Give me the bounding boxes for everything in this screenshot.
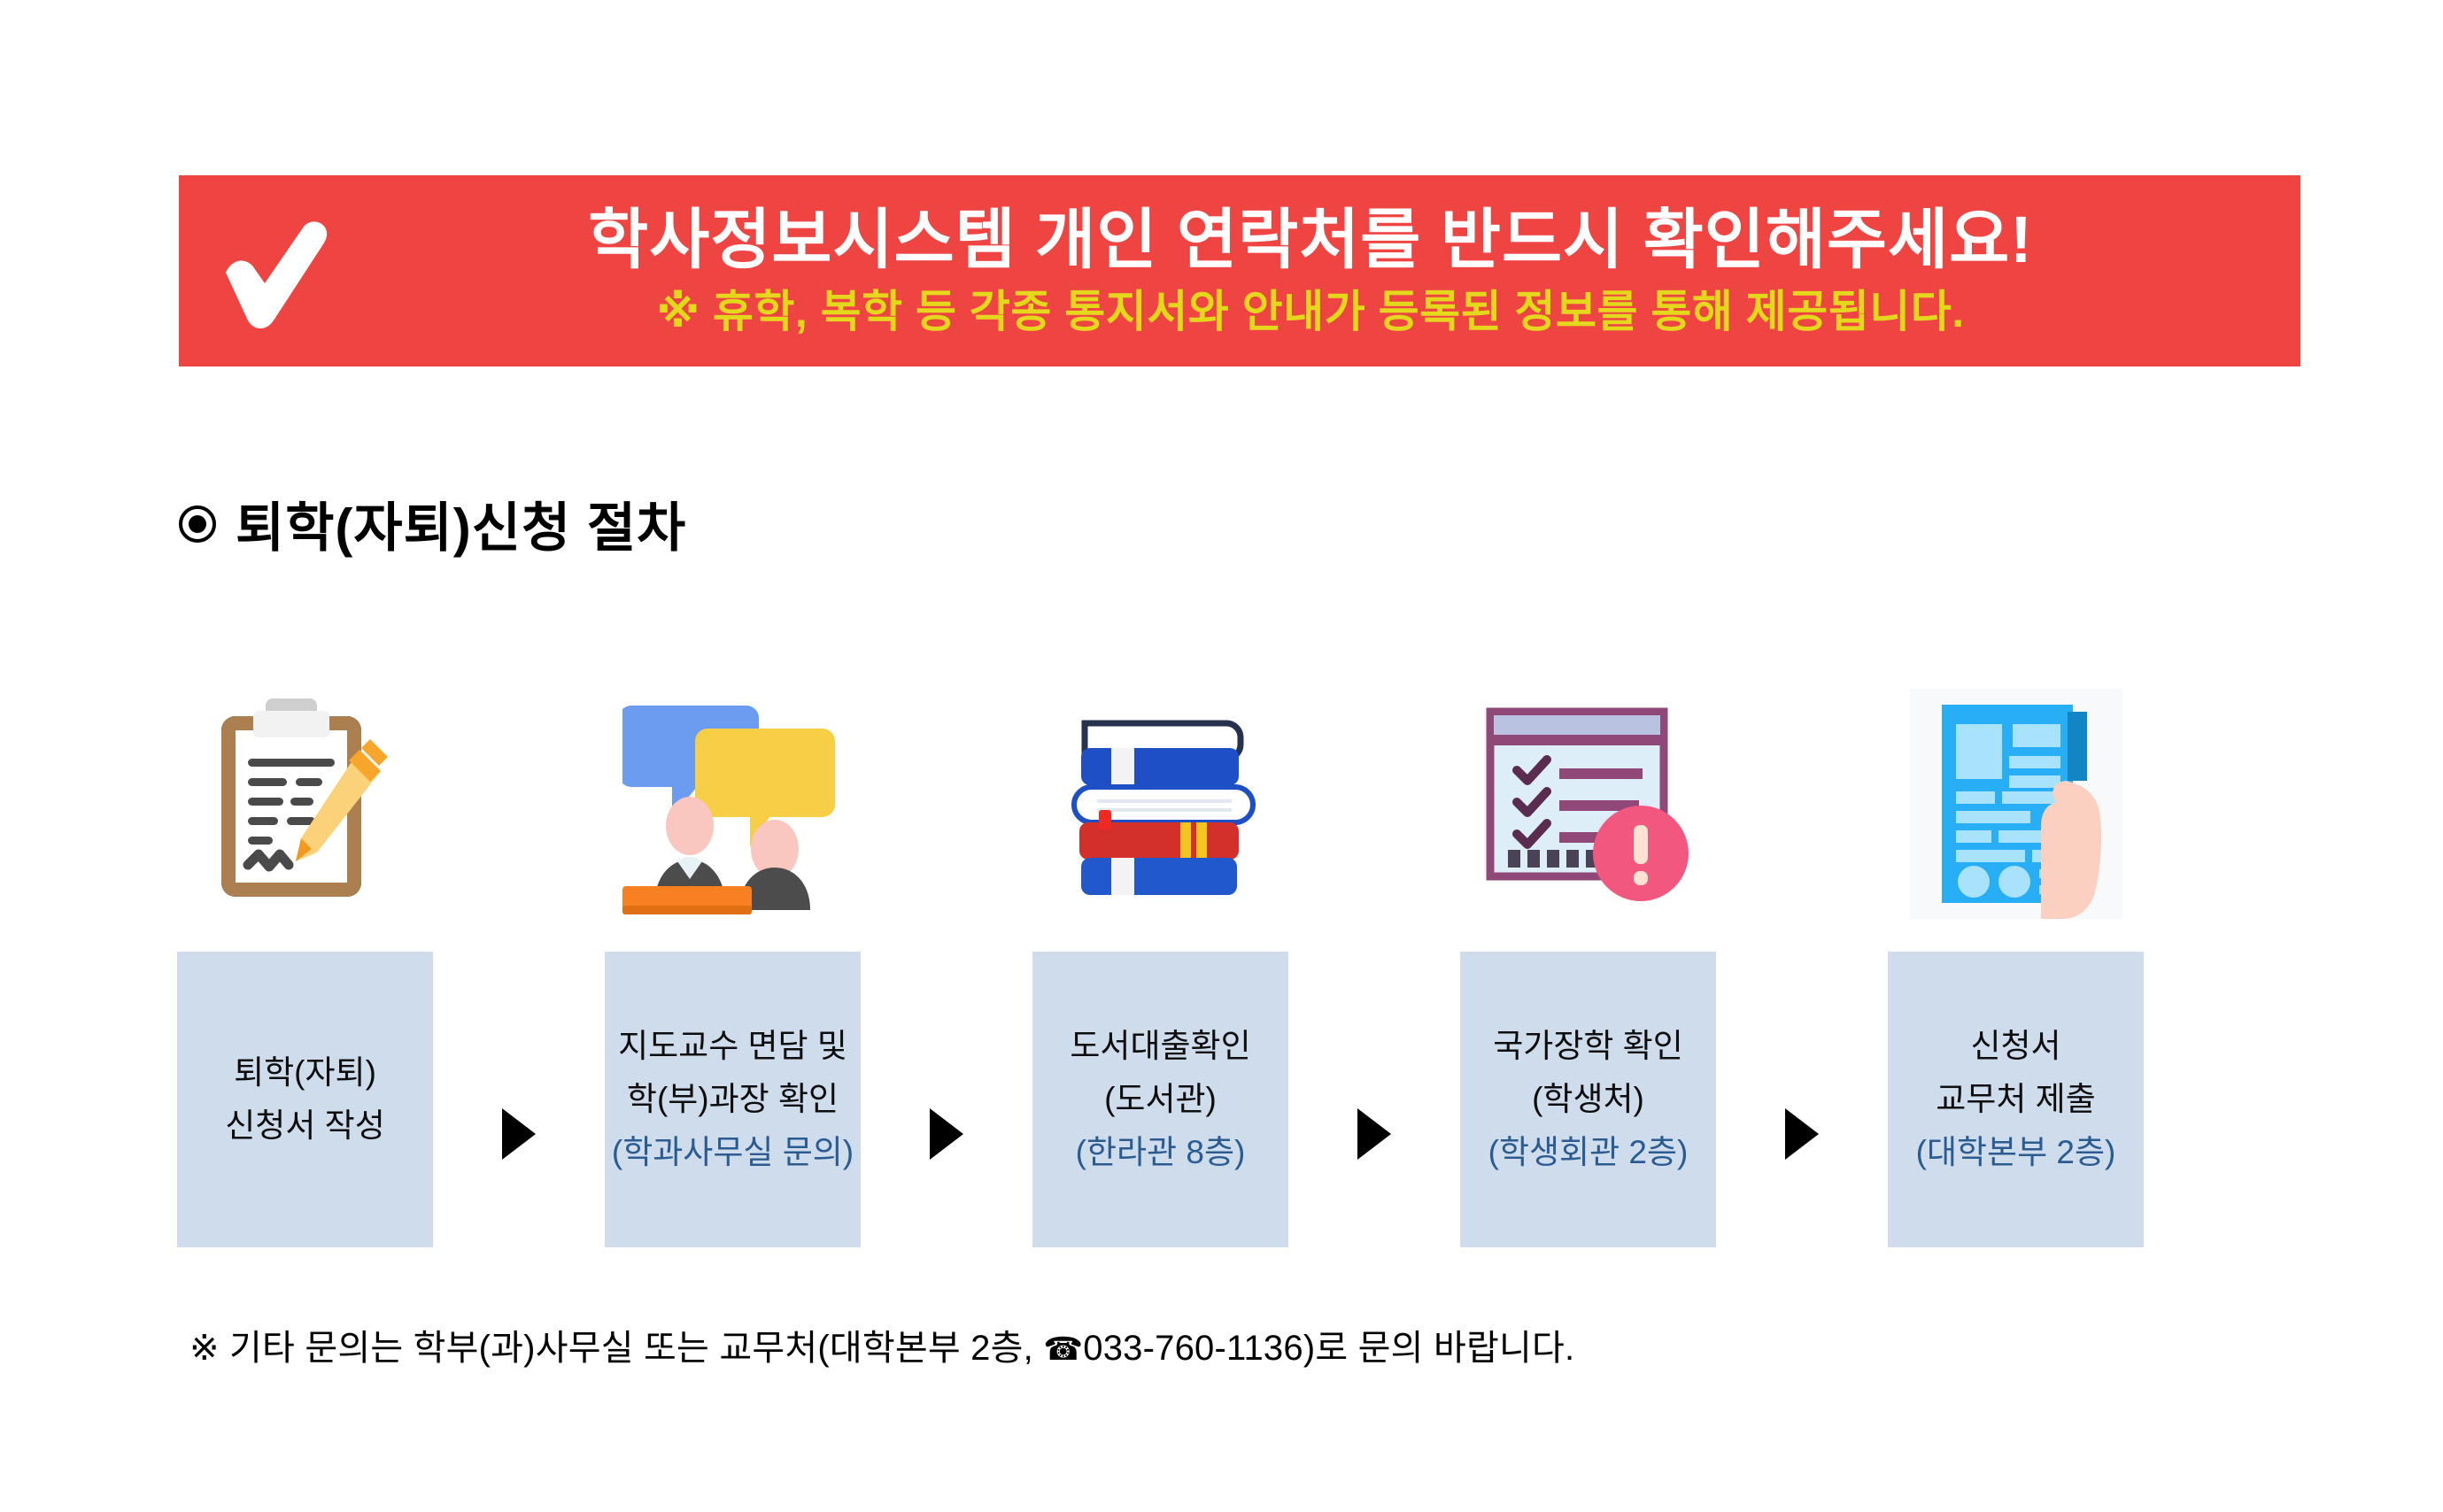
consultation-speech-bubbles-icon <box>605 655 861 952</box>
section-heading: 퇴학(자퇴)신청 절차 <box>179 485 686 562</box>
flow-step-line: 학(부)과장 확인 <box>627 1073 839 1126</box>
right-triangle-arrow-icon <box>861 655 1032 1310</box>
flow-step-box-2: 지도교수 면담 및 학(부)과장 확인 (학과사무실 문의) <box>605 952 861 1247</box>
flow-step-5: 신청서 교무처 제출 (대학본부 2층) <box>1888 655 2144 1310</box>
flow-step-2: 지도교수 면담 및 학(부)과장 확인 (학과사무실 문의) <box>605 655 861 1310</box>
flow-step-sub: (학생회관 2층) <box>1488 1126 1689 1179</box>
flow-step-box-3: 도서대출확인 (도서관) (한라관 8층) <box>1032 952 1288 1247</box>
notice-subtitle: ※ 휴학, 복학 등 각종 통지서와 안내가 등록된 정보를 통해 제공됩니다. <box>656 285 1964 338</box>
filled-circle-bullet-icon <box>179 505 216 543</box>
footnote-phone: 033-760-1136 <box>1083 1329 1303 1368</box>
notice-banner: 학사정보시스템 개인 연락처를 반드시 확인해주세요! ※ 휴학, 복학 등 각… <box>179 175 2300 366</box>
notice-title: 학사정보시스템 개인 연락처를 반드시 확인해주세요! <box>588 204 2033 277</box>
checklist-alert-icon <box>1460 655 1716 952</box>
flow-step-box-4: 국가장학 확인 (학생처) (학생회관 2층) <box>1460 952 1716 1247</box>
flow-step-box-1: 퇴학(자퇴) 신청서 작성 <box>177 952 433 1247</box>
flow-step-sub: (학과사무실 문의) <box>612 1126 854 1179</box>
flow-step-line: 지도교수 면담 및 <box>618 1020 847 1073</box>
book-stack-icon <box>1032 655 1288 952</box>
right-triangle-arrow-icon <box>1716 655 1888 1310</box>
flow-step-box-5: 신청서 교무처 제출 (대학본부 2층) <box>1888 952 2144 1247</box>
flow-step-line: 신청서 작성 <box>225 1099 384 1153</box>
notice-text-block: 학사정보시스템 개인 연락처를 반드시 확인해주세요! ※ 휴학, 복학 등 각… <box>356 204 2300 339</box>
flow-step-line: 도서대출확인 <box>1070 1020 1250 1073</box>
flow-step-line: 교무처 제출 <box>1936 1073 2095 1126</box>
flow-step-line: 퇴학(자퇴) <box>234 1046 376 1099</box>
right-triangle-arrow-icon <box>433 655 605 1310</box>
flow-step-3: 도서대출확인 (도서관) (한라관 8층) <box>1032 655 1288 1310</box>
flow-step-line: 신청서 <box>1970 1020 2060 1073</box>
flow-step-4: 국가장학 확인 (학생처) (학생회관 2층) <box>1460 655 1716 1310</box>
flow-step-line: (도서관) <box>1104 1073 1217 1126</box>
page-title: 퇴학(자퇴)신청 절차 <box>236 485 686 562</box>
clipboard-pencil-icon <box>177 655 433 952</box>
footnote-prefix: ※ 기타 문의는 학부(과)사무실 또는 교무처(대학본부 2층, <box>189 1329 1043 1368</box>
check-mark-icon <box>188 187 356 355</box>
footnote-suffix: )로 문의 바랍니다. <box>1303 1329 1574 1368</box>
right-triangle-arrow-icon <box>1288 655 1460 1310</box>
flow-step-sub: (한라관 8층) <box>1076 1126 1246 1179</box>
footnote: ※ 기타 문의는 학부(과)사무실 또는 교무처(대학본부 2층, ☎033-7… <box>189 1319 1574 1370</box>
flow-step-1: 퇴학(자퇴) 신청서 작성 <box>177 655 433 1310</box>
flow-step-line: (학생처) <box>1532 1073 1644 1126</box>
hand-holding-document-icon <box>1888 655 2144 952</box>
flow-step-line: 국가장학 확인 <box>1493 1020 1683 1073</box>
process-flow: 퇴학(자퇴) 신청서 작성 지도교수 면담 및 학( <box>177 655 2302 1310</box>
flow-step-sub: (대학본부 2층) <box>1916 1126 2116 1179</box>
telephone-icon: ☎ <box>1043 1331 1083 1367</box>
